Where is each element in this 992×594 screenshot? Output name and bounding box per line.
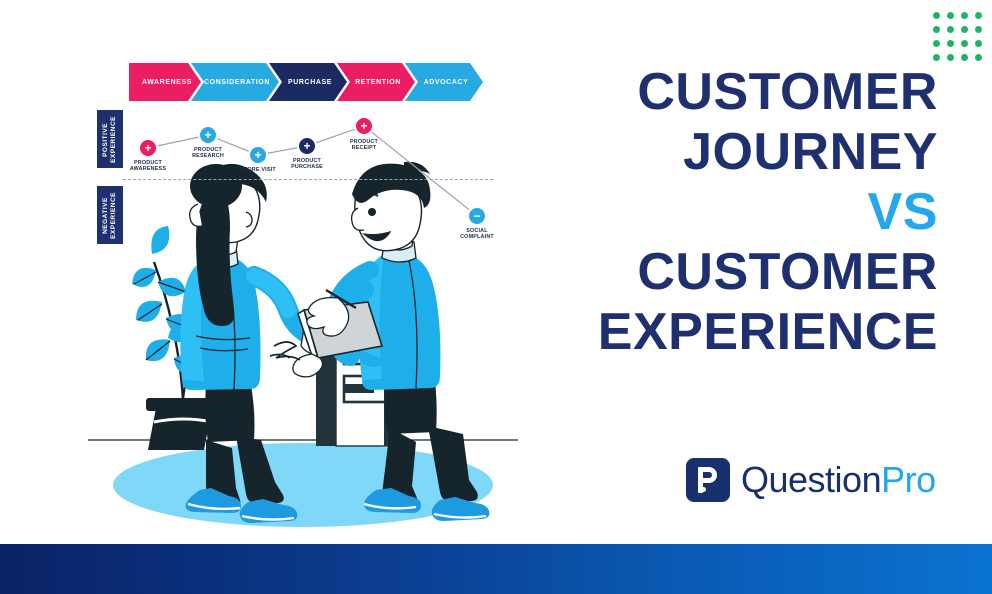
questionpro-logo[interactable]: QuestionPro (686, 458, 936, 502)
stage-label: ADVOCACY (424, 79, 469, 86)
logo-word-question: Question (741, 459, 881, 500)
doodle-scribble (270, 342, 300, 360)
touchpoint-node-1[interactable]: + (200, 127, 216, 143)
title-line-vs: VS (560, 182, 938, 242)
journey-stage-banner: AWARENESS CONSIDERATION PURCHASE RETENTI… (129, 63, 473, 101)
touchpoint-node-3[interactable]: + (299, 138, 315, 154)
stage-retention[interactable]: RETENTION (337, 63, 415, 101)
stage-label: PURCHASE (288, 79, 332, 86)
stage-awareness[interactable]: AWARENESS (129, 63, 201, 101)
stage-label: AWARENESS (142, 79, 192, 86)
negative-experience-label: NEGATIVE EXPERIENCE (97, 186, 123, 244)
positive-experience-label: POSITIVE EXPERIENCE (97, 110, 123, 168)
positive-experience-text: POSITIVE EXPERIENCE (102, 116, 118, 163)
title-line-2: JOURNEY (560, 122, 938, 182)
title-line-1: CUSTOMER (560, 62, 938, 122)
logo-word-pro: Pro (881, 459, 936, 500)
stage-label: RETENTION (355, 79, 401, 86)
touchpoint-label-4: PRODUCT RECEIPT (350, 139, 378, 152)
stage-purchase[interactable]: PURCHASE (269, 63, 347, 101)
stage-label: CONSIDERATION (204, 79, 270, 86)
touchpoint-node-5[interactable]: − (469, 208, 485, 224)
touchpoint-label-5: SOCIAL COMPLAINT (460, 228, 494, 241)
touchpoint-label-1: PRODUCT RESEARCH (192, 147, 224, 160)
two-people-conversation-illustration (88, 150, 518, 540)
negative-experience-text: NEGATIVE EXPERIENCE (102, 192, 118, 239)
page-title: CUSTOMER JOURNEY VS CUSTOMER EXPERIENCE (560, 62, 938, 362)
neutral-divider (123, 179, 493, 180)
questionpro-wordmark: QuestionPro (741, 462, 936, 498)
bottom-gradient-bar (0, 544, 992, 594)
touchpoint-label-3: PRODUCT PURCHASE (291, 158, 323, 171)
questionpro-mark-icon (686, 458, 730, 502)
title-line-4: CUSTOMER (560, 242, 938, 302)
touchpoint-node-0[interactable]: + (140, 140, 156, 156)
stage-consideration[interactable]: CONSIDERATION (191, 63, 279, 101)
title-line-5: EXPERIENCE (560, 302, 938, 362)
touchpoint-node-2[interactable]: + (250, 147, 266, 163)
touchpoint-label-2: STORE VISIT (240, 167, 276, 173)
touchpoint-label-0: PRODUCT AWARENESS (130, 160, 166, 173)
stage-advocacy[interactable]: ADVOCACY (405, 63, 483, 101)
poster-canvas: AWARENESS CONSIDERATION PURCHASE RETENTI… (0, 0, 992, 594)
dot-grid-icon (933, 12, 984, 63)
touchpoint-node-4[interactable]: + (356, 118, 372, 134)
